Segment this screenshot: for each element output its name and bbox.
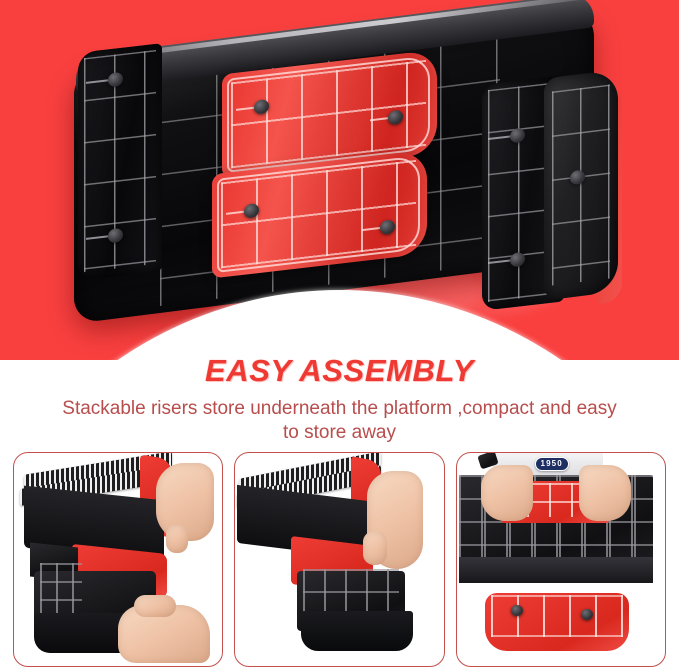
finger-upper — [166, 525, 188, 553]
finger-lower — [134, 595, 176, 617]
rubber-foot-pad — [108, 72, 123, 88]
riser-red-detail-cells — [491, 595, 623, 637]
rubber-foot-pad — [581, 609, 593, 620]
riser-base-skirt — [301, 611, 413, 651]
shirt-badge-1950: 1950 — [535, 457, 569, 471]
assembly-step-panels: 1950 — [0, 452, 679, 667]
rubber-foot-pad — [108, 228, 123, 244]
rubber-foot-pad — [511, 605, 523, 616]
finger — [363, 531, 387, 565]
riser-black-left — [78, 43, 162, 281]
rubber-foot-pad — [510, 252, 525, 268]
caption-block: EASY ASSEMBLY Stackable risers store und… — [0, 355, 679, 445]
platform-end-cap-right — [544, 69, 618, 300]
hero-banner — [0, 0, 679, 360]
end-cap-ribs — [552, 84, 610, 285]
assembly-panel-3: 1950 — [456, 452, 666, 667]
assembly-panel-1 — [13, 452, 223, 667]
page-subtitle: Stackable risers store underneath the pl… — [0, 397, 679, 446]
rubber-foot-pad — [570, 170, 585, 186]
rubber-foot-pad — [510, 128, 525, 144]
hand-right — [579, 465, 631, 521]
platform-side-skirt — [459, 557, 653, 583]
assembly-panel-2 — [234, 452, 444, 667]
riser-base-pockets — [40, 563, 82, 615]
page-title: EASY ASSEMBLY — [0, 355, 679, 388]
hand-left — [481, 465, 533, 521]
